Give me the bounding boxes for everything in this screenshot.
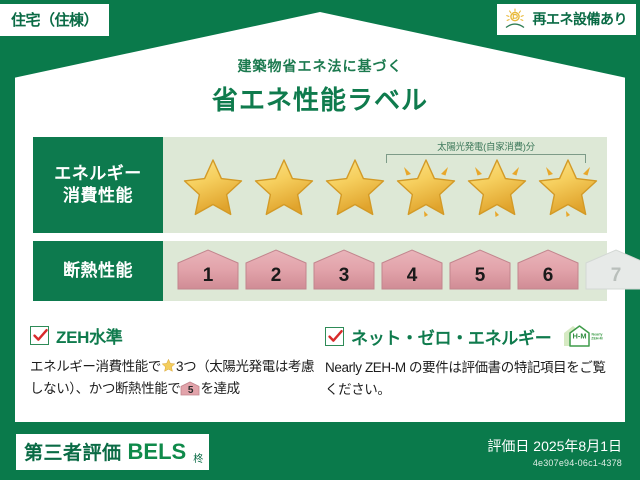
insulation-level-house: 4 bbox=[379, 247, 445, 293]
energy-header-line1: エネルギー bbox=[54, 163, 142, 185]
energy-performance-label: 住宅（住棟） 再エネ設備あり 建築物省エネ法に基づく 省エネ性能ラベル エネルギ… bbox=[0, 0, 640, 480]
star-solar bbox=[392, 155, 460, 221]
insulation-header-label: 断熱性能 bbox=[63, 260, 133, 282]
evaluation-info: 評価日 2025年8月1日 4e307e94-06c1-4378 bbox=[487, 436, 622, 468]
evaluation-id: 4e307e94-06c1-4378 bbox=[487, 458, 622, 468]
net-zero-description: Nearly ZEH-M の要件は評価書の特記項目をご覧ください。 bbox=[325, 357, 615, 401]
zeh-text-part4: を達成 bbox=[200, 381, 239, 396]
insulation-level-scale: 1 2 3 4 bbox=[175, 247, 640, 293]
zeh-standard-header: ZEH水準 bbox=[30, 323, 315, 348]
zeh-m-logo-icon: H-M Nearly ZEH-M bbox=[560, 323, 606, 349]
bels-third-party-badge: 第三者評価 BELS 柊 bbox=[16, 434, 209, 470]
inline-star-icon bbox=[161, 358, 176, 373]
star-filled bbox=[321, 155, 389, 221]
label-title-block: 建築物省エネ法に基づく 省エネ性能ラベル bbox=[0, 56, 640, 117]
check-icon bbox=[327, 328, 344, 345]
insulation-level-house: 6 bbox=[515, 247, 581, 293]
inline-house-level-icon: 5 bbox=[180, 381, 200, 396]
zeh-standard-block: ZEH水準 エネルギー消費性能で3つ（太陽光発電は考慮しない）、かつ断熱性能で5… bbox=[30, 323, 315, 400]
renewable-equipment-badge: 再エネ設備あり bbox=[497, 4, 637, 35]
zeh-standard-description: エネルギー消費性能で3つ（太陽光発電は考慮しない）、かつ断熱性能で5を達成 bbox=[30, 356, 315, 400]
insulation-panel-header: 断熱性能 bbox=[33, 241, 163, 301]
zeh-text-part2: 3つ（太陽光発電 bbox=[176, 359, 275, 374]
energy-panel-body: 太陽光発電(自家消費)分 bbox=[163, 137, 607, 233]
inline-house-level-number: 5 bbox=[180, 383, 200, 399]
insulation-panel-body: 1 2 3 4 bbox=[163, 241, 607, 301]
star-solar bbox=[534, 155, 602, 221]
net-zero-checkbox[interactable] bbox=[325, 327, 344, 346]
energy-performance-panel: エネルギー 消費性能 太陽光発電(自家消費)分 bbox=[33, 137, 607, 233]
energy-star-rating bbox=[179, 155, 602, 221]
building-type-badge: 住宅（住棟） bbox=[0, 4, 109, 36]
insulation-level-house: 2 bbox=[243, 247, 309, 293]
renewable-badge-label: 再エネ設備あり bbox=[533, 9, 628, 29]
net-zero-title: ネット・ゼロ・エネルギー bbox=[351, 324, 551, 349]
evaluation-date: 評価日 2025年8月1日 bbox=[487, 436, 622, 456]
net-zero-energy-block: ネット・ゼロ・エネルギー H-M Nearly ZEH-M Nearly ZEH… bbox=[325, 323, 615, 401]
bels-plate: 第三者評価 BELS 柊 bbox=[16, 434, 209, 470]
svg-text:ZEH-M: ZEH-M bbox=[592, 337, 603, 341]
insulation-level-house: 5 bbox=[447, 247, 513, 293]
bels-en-label: BELS bbox=[128, 439, 187, 465]
insulation-level-house-inactive: 7 bbox=[583, 247, 640, 293]
insulation-performance-panel: 断熱性能 1 bbox=[33, 241, 607, 301]
insulation-level-house: 1 bbox=[175, 247, 241, 293]
insulation-level-house: 3 bbox=[311, 247, 377, 293]
star-filled bbox=[250, 155, 318, 221]
star-filled bbox=[179, 155, 247, 221]
star-solar bbox=[463, 155, 531, 221]
bels-jp-label: 第三者評価 bbox=[24, 438, 122, 465]
label-main-title: 省エネ性能ラベル bbox=[0, 80, 640, 117]
bels-mark: 柊 bbox=[193, 450, 203, 465]
energy-panel-header: エネルギー 消費性能 bbox=[33, 137, 163, 233]
label-subtitle: 建築物省エネ法に基づく bbox=[0, 56, 640, 76]
zeh-text-part1: エネルギー消費性能で bbox=[30, 359, 161, 374]
zeh-checkbox[interactable] bbox=[30, 326, 49, 345]
solar-generation-note: 太陽光発電(自家消費)分 bbox=[381, 139, 591, 153]
zeh-m-logo-text: H-M bbox=[573, 332, 587, 341]
sun-icon bbox=[504, 8, 528, 30]
energy-header-line2: 消費性能 bbox=[63, 185, 133, 207]
net-zero-header: ネット・ゼロ・エネルギー H-M Nearly ZEH-M bbox=[325, 323, 615, 349]
check-icon bbox=[32, 327, 49, 344]
zeh-standard-title: ZEH水準 bbox=[56, 323, 123, 348]
